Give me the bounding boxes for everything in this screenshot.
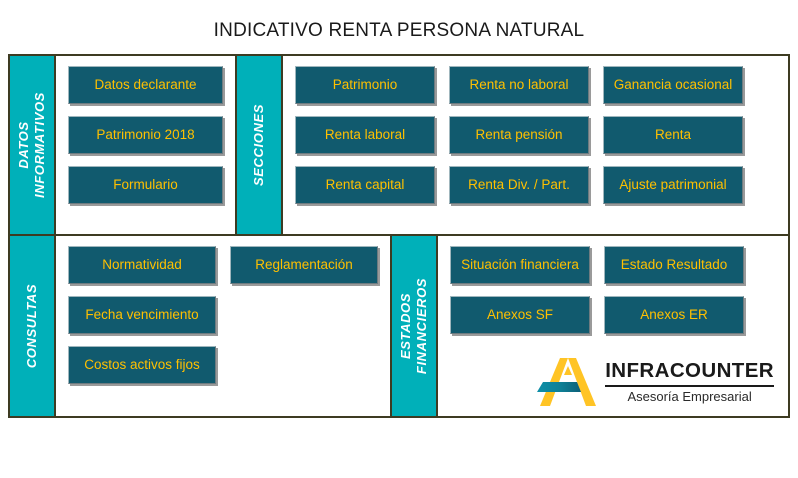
label-line-1: DATOS <box>16 121 31 168</box>
infracounter-tagline: Asesoría Empresarial <box>605 387 774 403</box>
panel-label-text-consultas: CONSULTAS <box>24 284 40 368</box>
button-costos-activos-fijos[interactable]: Costos activos fijos <box>68 346 216 384</box>
button-estado-resultado[interactable]: Estado Resultado <box>604 246 744 284</box>
panel-label-secciones: SECCIONES <box>237 56 283 234</box>
label-line-2: FINANCIEROS <box>414 278 429 374</box>
button-row: Datos declarante <box>68 66 223 104</box>
button-renta-no-laboral[interactable]: Renta no laboral <box>449 66 589 104</box>
button-renta-capital[interactable]: Renta capital <box>295 166 435 204</box>
button-reglamentacion[interactable]: Reglamentación <box>230 246 378 284</box>
page-title: INDICATIVO RENTA PERSONA NATURAL <box>0 20 798 42</box>
button-patrimonio-2018[interactable]: Patrimonio 2018 <box>68 116 223 154</box>
button-row: Situación financiera Estado Resultado <box>450 246 776 284</box>
diagram-frame: DATOSINFORMATIVOS Datos declarante Patri… <box>8 54 790 418</box>
diagram-row-top: DATOSINFORMATIVOS Datos declarante Patri… <box>10 56 788 234</box>
panel-consultas: CONSULTAS Normatividad Reglamentación Fe… <box>10 236 392 416</box>
button-row: Normatividad Reglamentación <box>68 246 378 284</box>
panel-label-datos-informativos: DATOSINFORMATIVOS <box>10 56 56 234</box>
button-anexos-sf[interactable]: Anexos SF <box>450 296 590 334</box>
infracounter-logo-text: INFRACOUNTER Asesoría Empresarial <box>605 361 774 403</box>
button-renta-pension[interactable]: Renta pensión <box>449 116 589 154</box>
label-line-2: INFORMATIVOS <box>32 92 47 198</box>
panel-label-estados-financieros: ESTADOSFINANCIEROS <box>392 236 438 416</box>
button-row: Patrimonio 2018 <box>68 116 223 154</box>
button-fecha-vencimiento[interactable]: Fecha vencimiento <box>68 296 216 334</box>
panel-label-consultas: CONSULTAS <box>10 236 56 416</box>
button-row: Anexos SF Anexos ER <box>450 296 776 334</box>
button-ganancia-ocasional[interactable]: Ganancia ocasional <box>603 66 743 104</box>
infracounter-logo-icon <box>535 356 597 408</box>
button-patrimonio[interactable]: Patrimonio <box>295 66 435 104</box>
button-ajuste-patrimonial[interactable]: Ajuste patrimonial <box>603 166 743 204</box>
button-situacion-financiera[interactable]: Situación financiera <box>450 246 590 284</box>
label-line-1: ESTADOS <box>398 293 413 359</box>
button-renta-div-part[interactable]: Renta Div. / Part. <box>449 166 589 204</box>
button-row: Formulario <box>68 166 223 204</box>
button-row: Renta capital Renta Div. / Part. Ajuste … <box>295 166 776 204</box>
panel-body-consultas: Normatividad Reglamentación Fecha vencim… <box>56 236 390 416</box>
panel-datos-informativos: DATOSINFORMATIVOS Datos declarante Patri… <box>10 56 237 234</box>
panel-label-text-datos-informativos: DATOSINFORMATIVOS <box>16 92 49 198</box>
diagram-row-bottom: CONSULTAS Normatividad Reglamentación Fe… <box>10 234 788 416</box>
button-row: Costos activos fijos <box>68 346 378 384</box>
button-normatividad[interactable]: Normatividad <box>68 246 216 284</box>
infracounter-logo: INFRACOUNTER Asesoría Empresarial <box>535 356 774 408</box>
panel-label-text-secciones: SECCIONES <box>251 104 267 186</box>
panel-body-estados-financieros: Situación financiera Estado Resultado An… <box>438 236 788 416</box>
panel-body-secciones: Patrimonio Renta no laboral Ganancia oca… <box>283 56 788 234</box>
button-renta-laboral[interactable]: Renta laboral <box>295 116 435 154</box>
button-anexos-er[interactable]: Anexos ER <box>604 296 744 334</box>
button-datos-declarante[interactable]: Datos declarante <box>68 66 223 104</box>
button-row: Fecha vencimiento <box>68 296 378 334</box>
button-renta[interactable]: Renta <box>603 116 743 154</box>
panel-estados-financieros: ESTADOSFINANCIEROS Situación financiera … <box>392 236 788 416</box>
button-row: Renta laboral Renta pensión Renta <box>295 116 776 154</box>
button-formulario[interactable]: Formulario <box>68 166 223 204</box>
panel-label-text-estados-financieros: ESTADOSFINANCIEROS <box>398 278 431 374</box>
infracounter-brand-name: INFRACOUNTER <box>605 361 774 387</box>
panel-body-datos-informativos: Datos declarante Patrimonio 2018 Formula… <box>56 56 235 234</box>
panel-secciones: SECCIONES Patrimonio Renta no laboral Ga… <box>237 56 788 234</box>
button-row: Patrimonio Renta no laboral Ganancia oca… <box>295 66 776 104</box>
